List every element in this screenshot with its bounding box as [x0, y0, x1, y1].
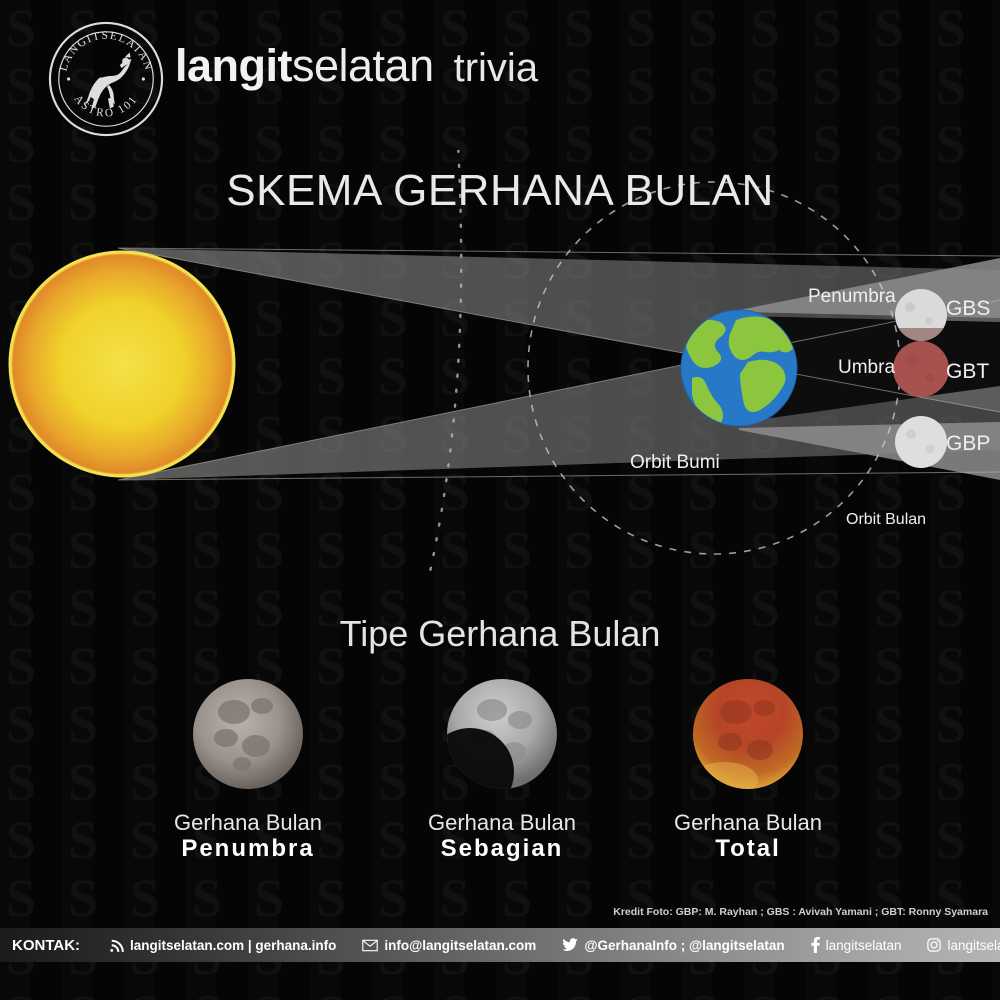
rss-icon [110, 938, 124, 952]
moon-penumbral-photo [190, 676, 306, 792]
label-gbs: GBS [946, 297, 990, 321]
label-gbt: GBT [946, 360, 989, 384]
infographic-page: S LANGITSELATAN ASTRO 101 [0, 0, 1000, 1000]
footer-item-text: langitselatan [826, 938, 902, 953]
footer-item-text: info@langitselatan.com [384, 938, 536, 953]
footer-item-twitter[interactable]: @GerhanaInfo ; @langitselatan [562, 938, 784, 953]
langitselatan-seal-logo-icon: LANGITSELATAN ASTRO 101 [47, 20, 165, 138]
page-title: SKEMA GERHANA BULAN [0, 166, 1000, 216]
eclipse-type-caption-top: Gerhana Bulan [628, 810, 868, 835]
wordmark-langit: langit [175, 40, 292, 92]
facebook-icon [811, 937, 820, 953]
eclipse-type-caption-bottom: Total [628, 835, 868, 864]
label-orbit-bulan: Orbit Bulan [846, 511, 926, 529]
label-gbp: GBP [946, 432, 990, 456]
contact-footer: KONTAK: langitselatan.com | gerhana.info… [0, 928, 1000, 962]
eclipse-type-card: Gerhana Bulan Sebagian [382, 676, 622, 864]
instagram-icon [927, 938, 941, 952]
footer-item-email[interactable]: info@langitselatan.com [362, 938, 536, 953]
wordmark-selatan: selatan [292, 40, 434, 92]
sun-icon [10, 252, 234, 476]
footer-item-text: langitselatan.com | gerhana.info [130, 938, 336, 953]
eclipse-type-caption-top: Gerhana Bulan [128, 810, 368, 835]
earth-globe-icon [681, 310, 797, 428]
svg-text:LANGITSELATAN: LANGITSELATAN [57, 30, 154, 73]
eclipse-type-caption-bottom: Sebagian [382, 835, 622, 864]
wordmark-trivia: trivia [454, 46, 538, 91]
label-penumbra: Penumbra [808, 286, 896, 308]
footer-item-text: @GerhanaInfo ; @langitselatan [584, 938, 784, 953]
moon-gbp-icon [895, 416, 947, 468]
label-orbit-bumi: Orbit Bumi [630, 452, 720, 474]
photo-credit: Kredit Foto: GBP: M. Rayhan ; GBS : Aviv… [613, 906, 988, 918]
moon-partial-photo [444, 676, 560, 792]
kontak-label: KONTAK: [12, 937, 80, 954]
logo-arc-top-text: LANGITSELATAN [57, 30, 154, 73]
eclipse-type-caption-top: Gerhana Bulan [382, 810, 622, 835]
twitter-icon [562, 938, 578, 952]
svg-text:ASTRO 101: ASTRO 101 [71, 93, 140, 120]
footer-item-facebook[interactable]: langitselatan [811, 937, 902, 953]
footer-item-text: langitselatanmedia [947, 938, 1000, 953]
section-title-types: Tipe Gerhana Bulan [0, 613, 1000, 655]
eclipse-type-card: Gerhana Bulan Penumbra [128, 676, 368, 864]
header: LANGITSELATAN ASTRO 101 langit selatan t… [0, 0, 1000, 140]
eclipse-type-card: Gerhana Bulan Total [628, 676, 868, 864]
envelope-icon [362, 939, 378, 952]
logo-centaur-figure [85, 52, 131, 108]
logo-arc-bottom-text: ASTRO 101 [71, 93, 140, 120]
footer-item-website[interactable]: langitselatan.com | gerhana.info [110, 938, 336, 953]
footer-item-instagram[interactable]: langitselatanmedia [927, 938, 1000, 953]
eclipse-type-caption-bottom: Penumbra [128, 835, 368, 864]
brand-wordmark: langit selatan trivia [175, 40, 538, 96]
label-umbra: Umbra [838, 357, 895, 379]
moon-gbt-icon [893, 341, 949, 397]
moon-total-photo [690, 676, 806, 792]
